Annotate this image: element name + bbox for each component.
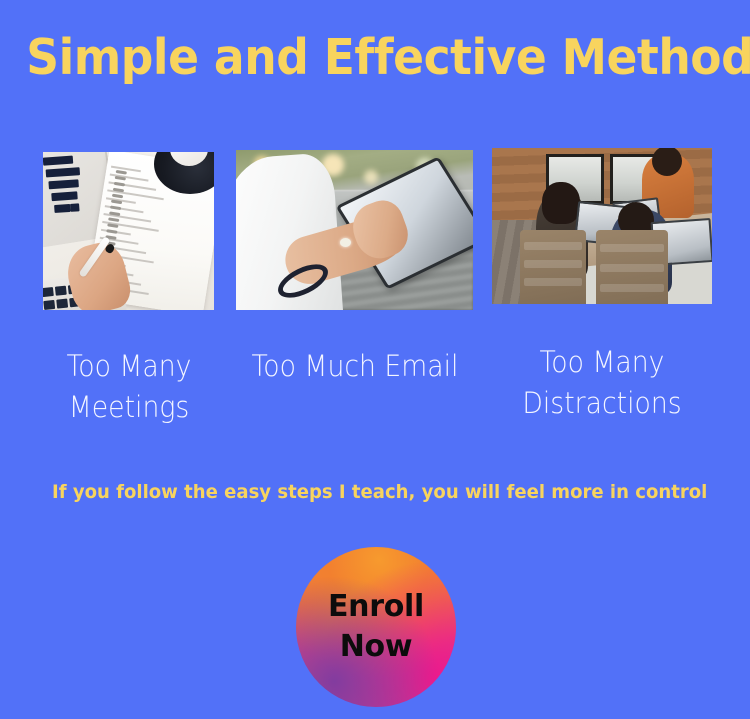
- page-title: Simple and Effective Methods: [26, 26, 724, 90]
- tagline: If you follow the easy steps I teach, yo…: [52, 478, 717, 506]
- caption-row: Too Many Meetings Too Much Email Too Man…: [0, 340, 750, 445]
- laptop-keys: [43, 154, 93, 223]
- enroll-now-label-line1: Enroll: [328, 587, 424, 627]
- enroll-now-label-line2: Now: [340, 627, 413, 667]
- chair-shape: [520, 230, 586, 304]
- ring-shape: [340, 238, 351, 247]
- photo-row: [0, 148, 750, 318]
- caption-too-many-meetings: Too Many Meetings: [41, 346, 218, 428]
- caption-too-much-email: Too Much Email: [242, 346, 468, 387]
- enroll-now-button[interactable]: Enroll Now: [296, 547, 456, 707]
- image-too-much-email: [236, 150, 473, 310]
- promo-poster: Simple and Effective Methods: [0, 0, 750, 719]
- caption-too-many-distractions: Too Many Distractions: [497, 342, 707, 424]
- chair-shape: [596, 230, 668, 304]
- image-too-many-distractions: [492, 148, 712, 304]
- image-too-many-meetings: [43, 152, 214, 310]
- person-head-shape: [542, 182, 580, 224]
- bokeh-light: [364, 170, 378, 184]
